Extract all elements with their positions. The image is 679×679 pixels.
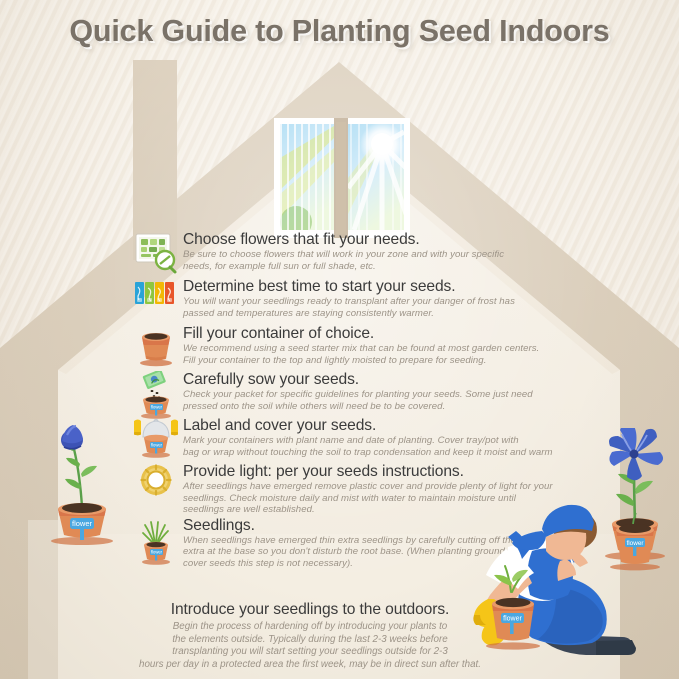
step-text: Choose flowers that fit your needs. Be s… xyxy=(183,231,583,272)
step-body-line: Be sure to choose flowers that will work… xyxy=(183,249,583,261)
step-body-line: After seedlings have emerged remove plas… xyxy=(183,481,583,493)
sowing-seeds-packet-icon: flower xyxy=(133,371,179,415)
outro-block: Introduce your seedlings to the outdoors… xyxy=(60,601,560,671)
outro-body-line: hours per day in a protected area the fi… xyxy=(60,659,560,672)
step-title: Label and cover your seeds. xyxy=(183,417,583,434)
seedlings-pot-icon: flower xyxy=(133,517,179,561)
step-text: Determine best time to start your seeds.… xyxy=(183,278,583,319)
step-item: flower Label and cover your seeds. Mark … xyxy=(133,417,583,461)
step-item: flower Carefully sow your seeds. Check y… xyxy=(133,371,583,415)
outro-body-line: the elements outside. Typically during t… xyxy=(60,634,560,647)
step-title: Provide light: per your seeds instructio… xyxy=(183,463,583,480)
step-text: Label and cover your seeds. Mark your co… xyxy=(183,417,583,458)
step-body-line: Mark your containers with plant name and… xyxy=(183,435,583,447)
step-body-line: You will want your seedlings ready to tr… xyxy=(183,296,583,308)
step-item: Choose flowers that fit your needs. Be s… xyxy=(133,231,583,275)
step-body: Check your packet for specific guideline… xyxy=(183,389,583,412)
step-body-line: Fill your container to the top and light… xyxy=(183,355,583,367)
outro-body-line: Begin the process of hardening off by in… xyxy=(60,621,560,634)
svg-text:flower: flower xyxy=(151,405,163,410)
potted-blue-flower-bud-icon: flower xyxy=(36,415,128,545)
step-body-line: pressed onto the soil while others will … xyxy=(183,401,583,413)
filled-flower-pot-icon xyxy=(133,325,179,369)
outro-title: Introduce your seedlings to the outdoors… xyxy=(60,601,560,619)
seed-packets-icon xyxy=(133,278,179,322)
covered-pot-gloves-icon: flower xyxy=(133,417,179,461)
step-body: We recommend using a seed starter mix th… xyxy=(183,343,583,366)
step-body-line: We recommend using a seed starter mix th… xyxy=(183,343,583,355)
svg-text:flower: flower xyxy=(151,549,163,554)
step-title: Carefully sow your seeds. xyxy=(183,371,583,388)
outro-body-line: transplanting you will start setting you… xyxy=(60,646,560,659)
step-title: Choose flowers that fit your needs. xyxy=(183,231,583,248)
svg-text:flower: flower xyxy=(72,519,93,528)
step-text: Fill your container of choice. We recomm… xyxy=(183,325,583,366)
poster-title-wrap: Quick Guide to Planting Seed Indoors xyxy=(0,14,679,49)
page-title: Quick Guide to Planting Seed Indoors xyxy=(69,14,609,49)
outro-body: Begin the process of hardening off by in… xyxy=(60,621,560,671)
step-item: Fill your container of choice. We recomm… xyxy=(133,325,583,369)
step-item: Determine best time to start your seeds.… xyxy=(133,278,583,322)
step-title: Determine best time to start your seeds. xyxy=(183,278,583,295)
step-body: Mark your containers with plant name and… xyxy=(183,435,583,458)
sun-light-ring-icon xyxy=(133,463,179,507)
step-text: Carefully sow your seeds. Check your pac… xyxy=(183,371,583,412)
step-body-line: Check your packet for specific guideline… xyxy=(183,389,583,401)
window-with-sunlight-icon xyxy=(274,118,410,238)
seed-catalog-magnifier-icon xyxy=(133,231,179,275)
step-title: Fill your container of choice. xyxy=(183,325,583,342)
svg-text:flower: flower xyxy=(151,443,163,448)
infographic-poster: Quick Guide to Planting Seed Indoors xyxy=(0,0,679,679)
step-body-line: bag or wrap without touching the soil to… xyxy=(183,447,583,459)
step-body-line: passed and temperatures are staying cons… xyxy=(183,308,583,320)
step-body-line: needs, for example full sun or full shad… xyxy=(183,261,583,273)
step-body: Be sure to choose flowers that will work… xyxy=(183,249,583,272)
step-body: You will want your seedlings ready to tr… xyxy=(183,296,583,319)
